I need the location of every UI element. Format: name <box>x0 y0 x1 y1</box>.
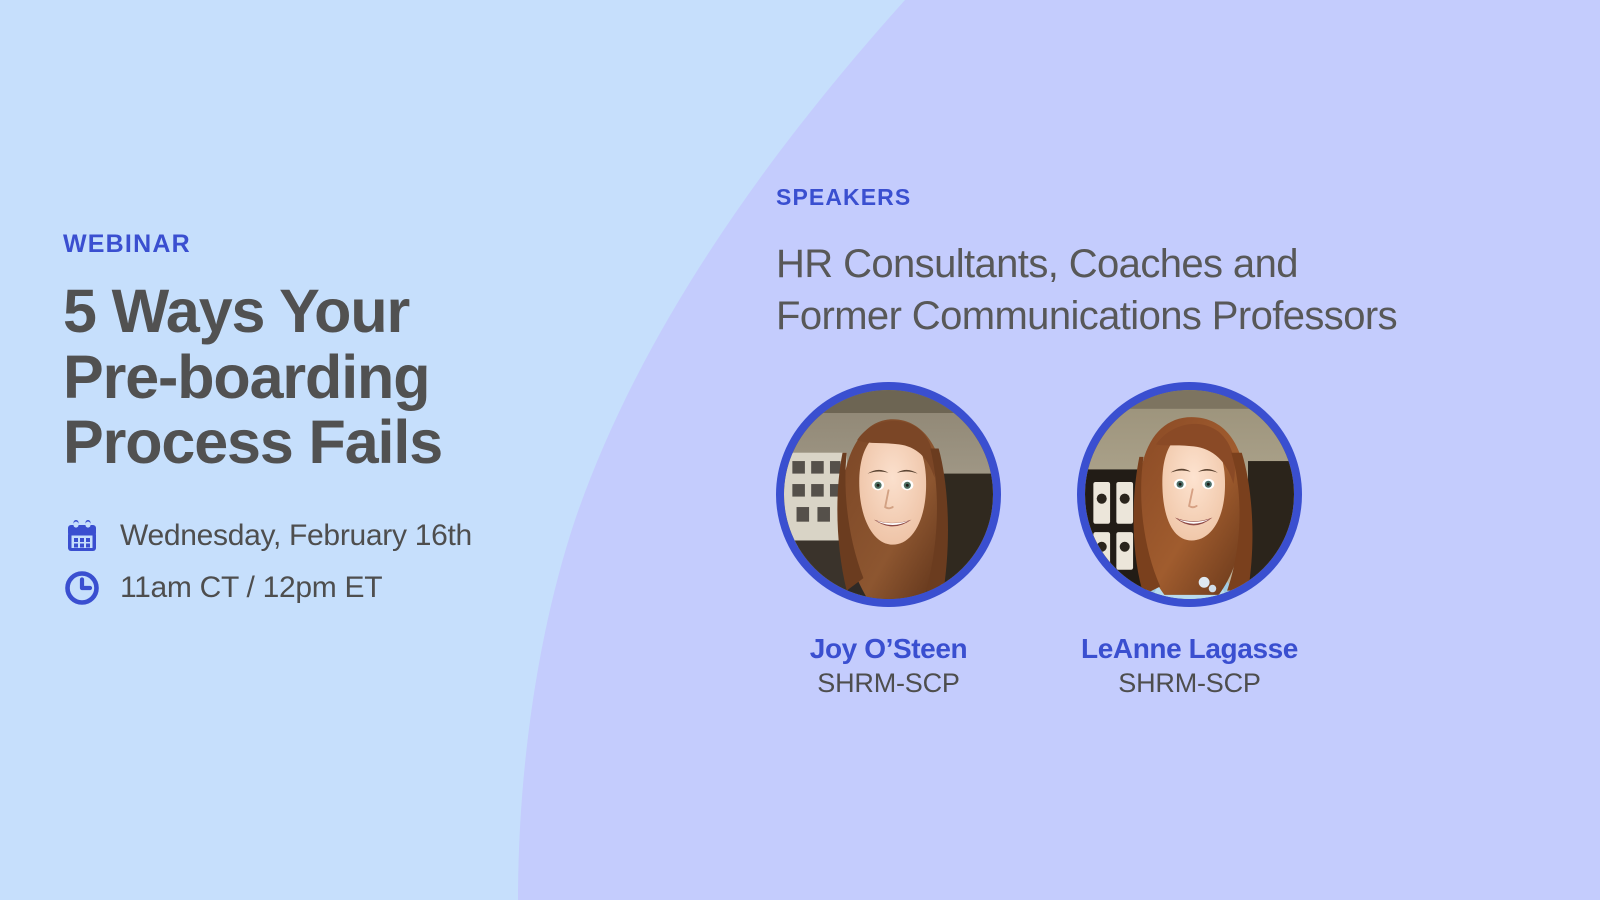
avatar <box>776 382 1001 607</box>
webinar-promo-graphic: WEBINAR 5 Ways Your Pre-boarding Process… <box>0 0 1600 900</box>
calendar-icon <box>63 517 101 555</box>
webinar-eyebrow: WEBINAR <box>63 232 533 257</box>
headshot-joy-osteen <box>784 390 993 599</box>
webinar-schedule: Wednesday, February 16th 11am CT / 12pm … <box>63 510 533 614</box>
speakers-list: Joy O’Steen SHRM-SCP <box>776 382 1302 699</box>
webinar-date-row: Wednesday, February 16th <box>63 510 533 562</box>
webinar-date: Wednesday, February 16th <box>120 519 472 553</box>
speakers-info-block: SPEAKERS HR Consultants, Coaches and For… <box>776 186 1536 342</box>
speaker-name: LeAnne Lagasse <box>1077 633 1302 665</box>
subtitle-line-1: HR Consultants, Coaches and <box>776 238 1536 290</box>
speakers-eyebrow: SPEAKERS <box>776 186 1536 209</box>
speaker-credential: SHRM-SCP <box>776 668 1001 699</box>
subtitle-line-2: Former Communications Professors <box>776 290 1536 342</box>
webinar-time: 11am CT / 12pm ET <box>120 571 382 605</box>
webinar-time-row: 11am CT / 12pm ET <box>63 562 533 614</box>
headshot-leanne-lagasse <box>1085 390 1294 599</box>
speaker-card: LeAnne Lagasse SHRM-SCP <box>1077 382 1302 699</box>
clock-icon <box>63 569 101 607</box>
speaker-name: Joy O’Steen <box>776 633 1001 665</box>
headline-line-1: 5 Ways Your <box>63 279 533 345</box>
speaker-credential: SHRM-SCP <box>1077 668 1302 699</box>
headline-line-3: Process Fails <box>63 410 533 476</box>
speaker-card: Joy O’Steen SHRM-SCP <box>776 382 1001 699</box>
avatar <box>1077 382 1302 607</box>
headline-line-2: Pre-boarding <box>63 345 533 411</box>
page-title: 5 Ways Your Pre-boarding Process Fails <box>63 279 533 476</box>
webinar-info-block: WEBINAR 5 Ways Your Pre-boarding Process… <box>63 232 533 614</box>
speakers-subtitle: HR Consultants, Coaches and Former Commu… <box>776 238 1536 342</box>
